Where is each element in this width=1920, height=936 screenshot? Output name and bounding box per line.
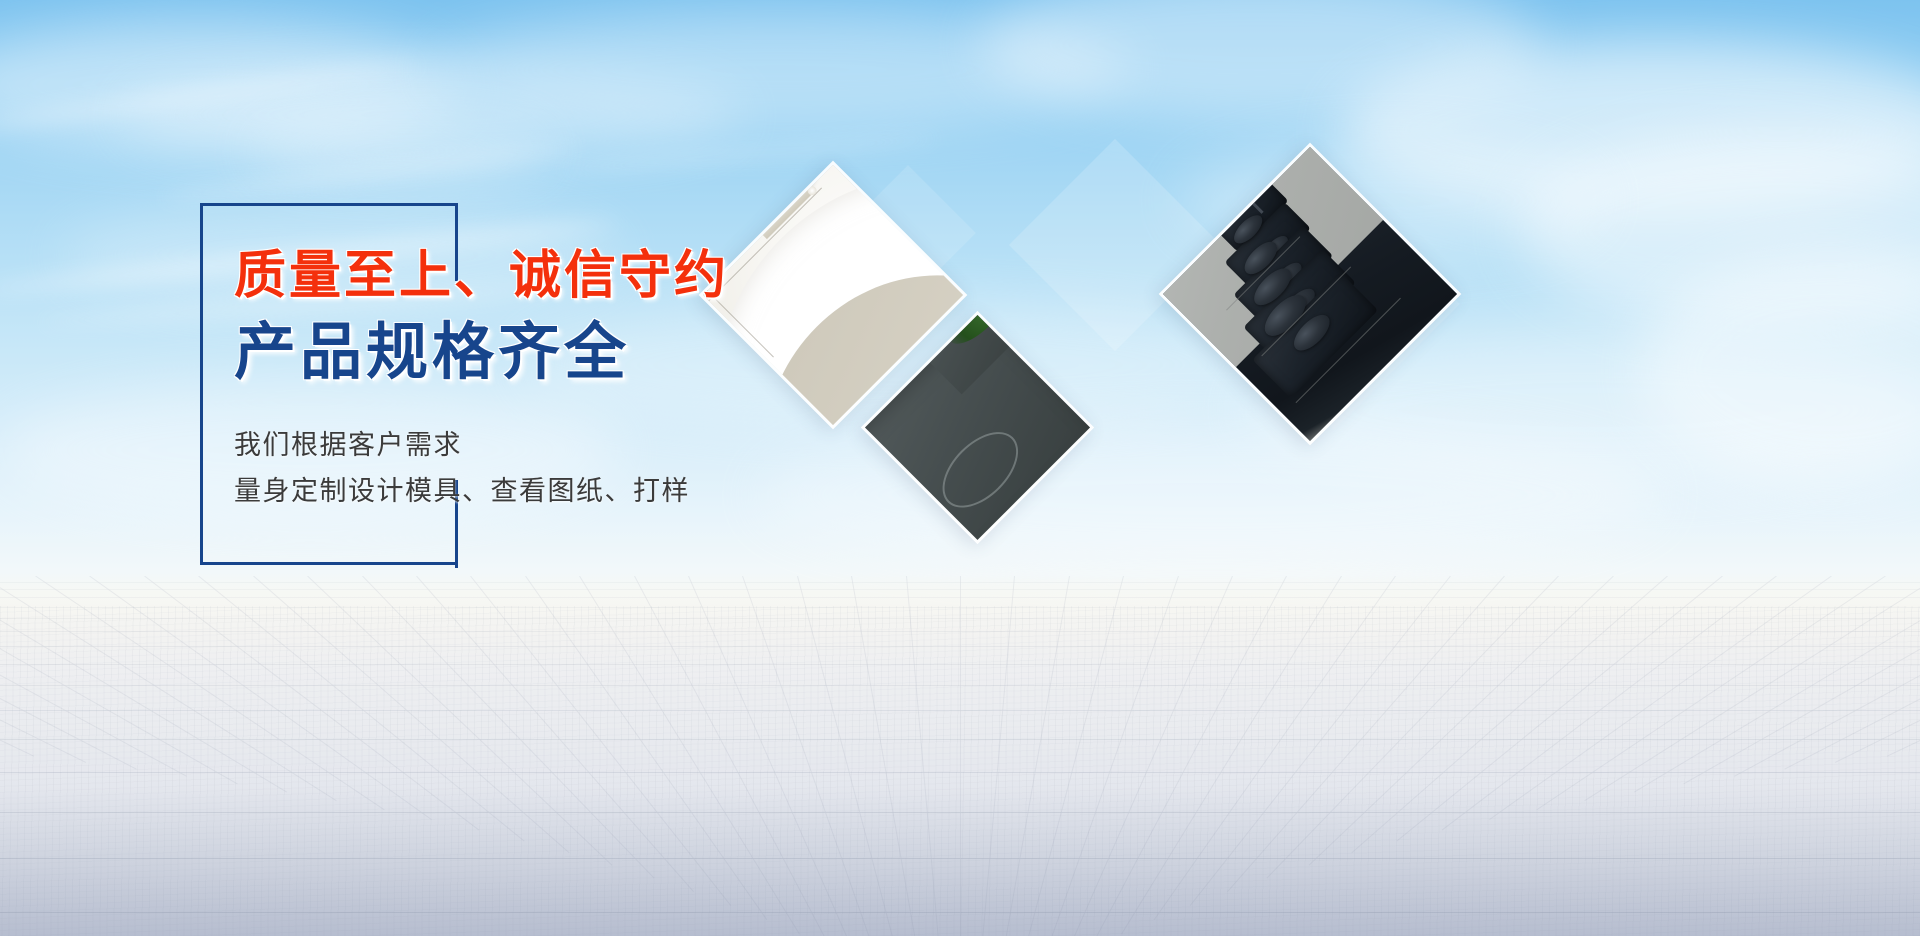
headline-secondary: 产品规格齐全 — [234, 320, 1054, 386]
frame-left-edge — [200, 203, 203, 565]
pavement-shadow — [0, 786, 1920, 936]
subtitle-line-1: 我们根据客户需求 — [234, 422, 1054, 468]
frame-bottom-edge — [200, 562, 458, 565]
banner-text-block: 质量至上、诚信守约 产品规格齐全 我们根据客户需求 量身定制设计模具、查看图纸、… — [234, 248, 1054, 515]
headline-primary: 质量至上、诚信守约 — [234, 248, 1054, 304]
hero-banner: 质量至上、诚信守约 产品规格齐全 我们根据客户需求 量身定制设计模具、查看图纸、… — [0, 0, 1920, 936]
frame-top-edge — [200, 203, 458, 206]
subtitle-line-2: 量身定制设计模具、查看图纸、打样 — [234, 468, 1054, 514]
